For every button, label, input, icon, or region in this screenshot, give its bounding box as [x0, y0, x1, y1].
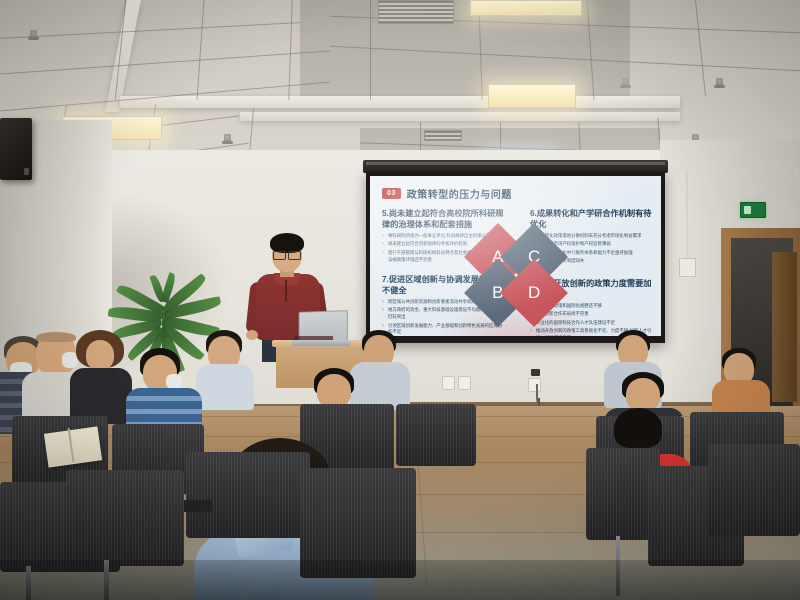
exit-sign-icon	[740, 202, 766, 218]
sprinkler-icon	[30, 30, 37, 40]
presenter-hand-left	[246, 330, 258, 340]
sprinkler-icon	[224, 134, 231, 144]
wall-plug-icon	[531, 369, 540, 376]
screen-housing-highlight	[366, 162, 665, 165]
diamond-label: D	[528, 283, 540, 303]
office-chair[interactable]	[66, 470, 184, 566]
presenter-hair	[270, 233, 304, 253]
four-diamond-diagram: A C B D	[467, 226, 565, 324]
wall-display-icon	[0, 118, 32, 180]
air-vent-icon	[424, 130, 462, 141]
office-chair[interactable]	[708, 444, 800, 536]
conference-room-photo: 03 政策转型的压力与问题 5.尚未建立起符合高校院所科研规律的治理体系和配套措…	[0, 0, 800, 600]
ceiling-light	[488, 84, 576, 108]
section-badge: 03	[382, 188, 401, 199]
foreground-shadow	[0, 560, 800, 600]
slide-header: 03 政策转型的压力与问题	[382, 186, 512, 201]
glasses-icon	[273, 251, 301, 258]
laptop-base[interactable]	[292, 340, 350, 346]
wall-outlet[interactable]	[442, 376, 455, 390]
presenter-placket	[285, 280, 287, 302]
slide-title: 政策转型的压力与问题	[407, 186, 512, 201]
presentation-slide: 03 政策转型的压力与问题 5.尚未建立起符合高校院所科研规律的治理体系和配套措…	[370, 176, 661, 336]
wall-outlet[interactable]	[458, 376, 471, 390]
office-chair[interactable]	[186, 452, 310, 538]
air-vent-icon	[378, 0, 454, 24]
screen-pull-cord[interactable]	[686, 170, 688, 260]
bullet-item: 引领区域创新发展能力、产业基础和创新特色发展的区域协作不足	[382, 323, 504, 336]
sprinkler-icon	[622, 78, 629, 88]
sprinkler-icon	[716, 78, 723, 88]
ceiling-light	[470, 0, 582, 16]
office-chair[interactable]	[396, 404, 476, 466]
interior-door[interactable]	[772, 252, 797, 402]
screen-control-box[interactable]	[679, 258, 696, 277]
